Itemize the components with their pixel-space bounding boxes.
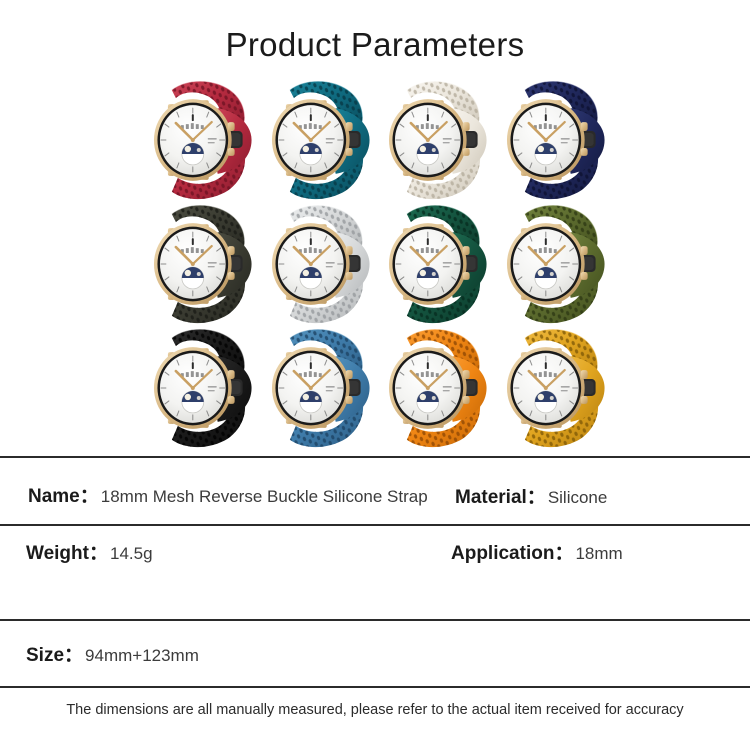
side-button xyxy=(345,396,352,404)
moonphase-subdial xyxy=(534,267,556,289)
spec-weight-label: Weight： xyxy=(26,538,108,565)
watch-variant[interactable] xyxy=(501,78,619,202)
watch-image xyxy=(383,78,501,202)
spec-row-weight: Weight： 14.5g Application： 18mm xyxy=(0,538,750,578)
spec-weight-value: 14.5g xyxy=(110,544,153,564)
watch-image xyxy=(383,326,501,450)
side-button xyxy=(228,148,235,156)
moonphase-subdial xyxy=(182,391,204,413)
moonphase-subdial xyxy=(534,391,556,413)
watch-image xyxy=(501,78,619,202)
spec-material-value: Silicone xyxy=(548,488,608,508)
moonphase-subdial xyxy=(417,267,439,289)
moonphase-subdial xyxy=(182,143,204,165)
spec-row-name: Name： 18mm Mesh Reverse Buckle Silicone … xyxy=(0,481,750,521)
side-button xyxy=(228,272,235,280)
moonphase-subdial xyxy=(534,143,556,165)
moonphase-subdial xyxy=(299,143,321,165)
spec-material-label: Material： xyxy=(455,482,546,509)
side-button xyxy=(463,272,470,280)
spec-size-value: 94mm+123mm xyxy=(85,646,199,666)
side-button xyxy=(228,396,235,404)
spec-divider-top xyxy=(0,456,750,458)
moonphase-subdial xyxy=(417,143,439,165)
watch-image xyxy=(148,202,266,326)
side-button xyxy=(580,396,587,404)
crown xyxy=(580,122,587,131)
crown xyxy=(463,246,470,255)
watch-variant[interactable] xyxy=(383,202,501,326)
moonphase-subdial xyxy=(299,391,321,413)
watch-image xyxy=(383,202,501,326)
moonphase-subdial xyxy=(182,267,204,289)
crown xyxy=(463,370,470,379)
spec-size-label: Size： xyxy=(26,640,83,667)
crown xyxy=(345,370,352,379)
spec-size: Size： 94mm+123mm xyxy=(26,640,199,667)
spec-name-label: Name： xyxy=(28,481,99,508)
watch-image xyxy=(266,202,384,326)
watch-image xyxy=(501,326,619,450)
side-button xyxy=(345,148,352,156)
watch-variant[interactable] xyxy=(266,202,384,326)
page-title: Product Parameters xyxy=(0,26,750,64)
watch-variant[interactable] xyxy=(148,202,266,326)
watch-variant[interactable] xyxy=(266,326,384,450)
crown xyxy=(345,246,352,255)
crown xyxy=(463,122,470,131)
side-button xyxy=(345,272,352,280)
watch-image xyxy=(148,78,266,202)
watch-image xyxy=(148,326,266,450)
watch-variant[interactable] xyxy=(501,326,619,450)
crown xyxy=(228,246,235,255)
side-button xyxy=(580,272,587,280)
side-button xyxy=(463,396,470,404)
spec-application-label: Application： xyxy=(451,538,573,565)
watch-variant[interactable] xyxy=(383,78,501,202)
crown xyxy=(580,370,587,379)
watch-image xyxy=(266,326,384,450)
watch-color-gallery xyxy=(148,78,618,450)
product-parameters-page: Product Parameters xyxy=(0,0,750,750)
spec-divider-mid xyxy=(0,524,750,526)
watch-variant[interactable] xyxy=(148,78,266,202)
spec-row-size: Size： 94mm+123mm xyxy=(0,640,750,680)
spec-name-value: 18mm Mesh Reverse Buckle Silicone Strap xyxy=(101,487,428,507)
spec-divider-size-top xyxy=(0,619,750,621)
spec-divider-bottom xyxy=(0,686,750,688)
spec-material: Material： Silicone xyxy=(455,482,607,509)
spec-application-value: 18mm xyxy=(575,544,622,564)
watch-variant[interactable] xyxy=(266,78,384,202)
crown xyxy=(228,370,235,379)
spec-name: Name： 18mm Mesh Reverse Buckle Silicone … xyxy=(28,481,428,508)
watch-variant[interactable] xyxy=(383,326,501,450)
watch-variant[interactable] xyxy=(501,202,619,326)
watch-image xyxy=(266,78,384,202)
side-button xyxy=(580,148,587,156)
moonphase-subdial xyxy=(299,267,321,289)
measurement-disclaimer: The dimensions are all manually measured… xyxy=(0,702,750,718)
crown xyxy=(345,122,352,131)
side-button xyxy=(463,148,470,156)
spec-application: Application： 18mm xyxy=(451,538,623,565)
moonphase-subdial xyxy=(417,391,439,413)
crown xyxy=(228,122,235,131)
watch-image xyxy=(501,202,619,326)
crown xyxy=(580,246,587,255)
watch-variant[interactable] xyxy=(148,326,266,450)
spec-weight: Weight： 14.5g xyxy=(26,538,153,565)
